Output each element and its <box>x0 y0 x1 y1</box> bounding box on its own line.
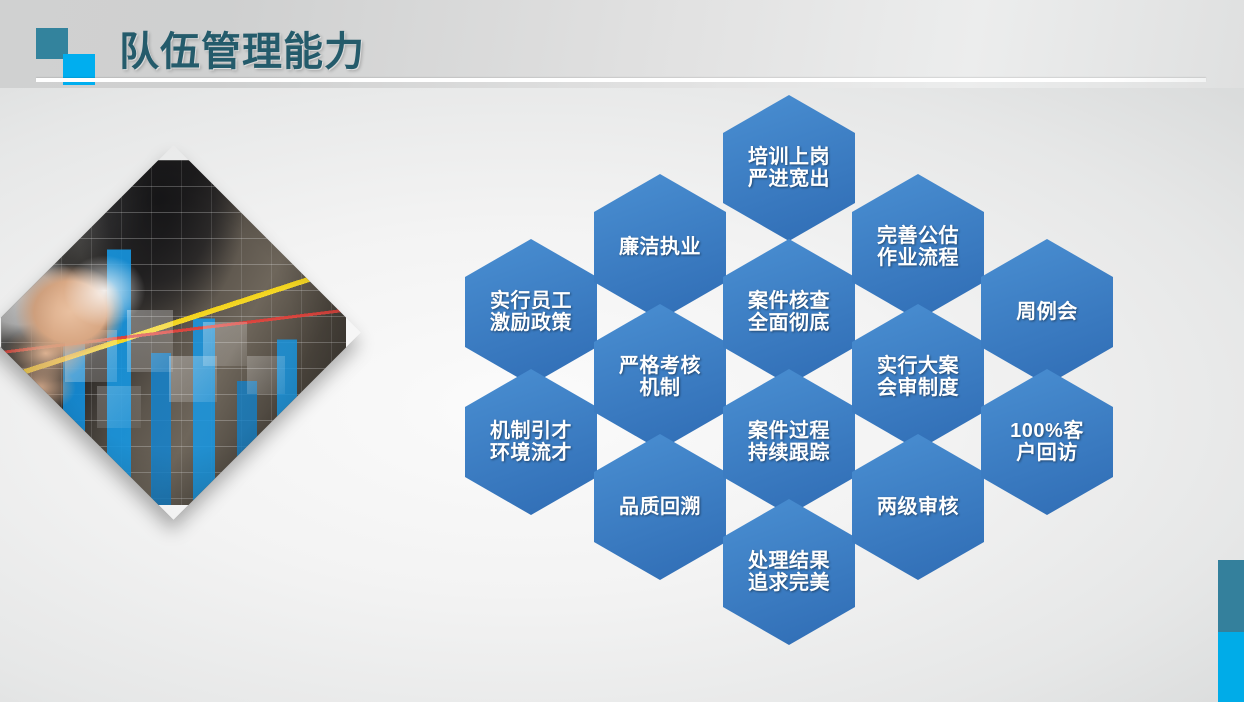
hexagon-two-level-audit[interactable]: 两级审核 <box>852 434 984 580</box>
hexagon-strict-assessment-mechanism[interactable]: 严格考核 机制 <box>594 304 726 450</box>
hexagon-diagram: 实行员工 激励政策机制引才 环境流才廉洁执业严格考核 机制品质回溯培训上岗 严进… <box>0 0 1244 702</box>
hexagon-label: 100%客 户回访 <box>1004 420 1090 465</box>
hexagon-employee-incentive-policy[interactable]: 实行员工 激励政策 <box>465 239 597 385</box>
hexagon-integrity-practice[interactable]: 廉洁执业 <box>594 174 726 320</box>
accent-block-teal <box>1218 560 1244 632</box>
hexagon-case-review-thorough[interactable]: 案件核查 全面彻底 <box>723 239 855 385</box>
accent-block-cyan <box>1218 632 1244 702</box>
slide-canvas: 队伍管理能力 实行员工 激励政策机制引才 环境流才廉洁执业严格考核 机制品质回溯… <box>0 0 1244 702</box>
hexagon-label: 案件核查 全面彻底 <box>742 290 836 335</box>
hexagon-talent-attraction-environment[interactable]: 机制引才 环境流才 <box>465 369 597 515</box>
hexagon-quality-traceability[interactable]: 品质回溯 <box>594 434 726 580</box>
hexagon-weekly-meeting[interactable]: 周例会 <box>981 239 1113 385</box>
hexagon-improve-appraisal-workflow[interactable]: 完善公估 作业流程 <box>852 174 984 320</box>
hexagon-pursue-perfect-result[interactable]: 处理结果 追求完美 <box>723 499 855 645</box>
hexagon-label: 周例会 <box>1010 301 1084 323</box>
hexagon-label: 严格考核 机制 <box>613 355 707 400</box>
hexagon-label: 品质回溯 <box>613 496 707 518</box>
hexagon-label: 实行员工 激励政策 <box>484 290 578 335</box>
hexagon-major-case-joint-review[interactable]: 实行大案 会审制度 <box>852 304 984 450</box>
hexagon-label: 两级审核 <box>871 496 965 518</box>
hexagon-label: 完善公估 作业流程 <box>871 225 965 270</box>
hexagon-label: 案件过程 持续跟踪 <box>742 420 836 465</box>
hexagon-training-before-duty[interactable]: 培训上岗 严进宽出 <box>723 95 855 241</box>
hexagon-label: 机制引才 环境流才 <box>484 420 578 465</box>
hexagon-case-process-tracking[interactable]: 案件过程 持续跟踪 <box>723 369 855 515</box>
hexagon-label: 处理结果 追求完美 <box>742 550 836 595</box>
hexagon-label: 廉洁执业 <box>613 236 707 258</box>
hexagon-label: 实行大案 会审制度 <box>871 355 965 400</box>
hexagon-label: 培训上岗 严进宽出 <box>742 146 836 191</box>
hexagon-full-customer-followup[interactable]: 100%客 户回访 <box>981 369 1113 515</box>
